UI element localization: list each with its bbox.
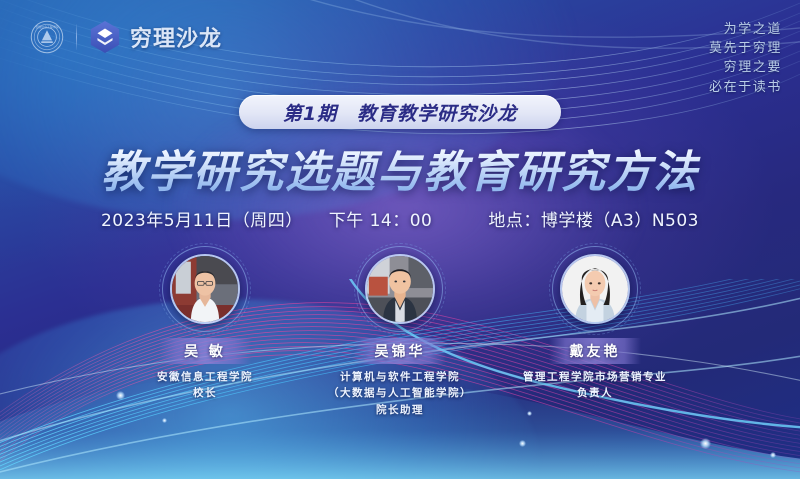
sparkle-dot [700,438,711,449]
page-title: 教学研究选题与教育研究方法 [0,136,800,200]
speaker-nameplate: 吴 敏 [159,338,251,364]
sparkle-dot [770,452,776,458]
event-time: 下午 14：00 [329,206,433,231]
sparkle-dot [162,418,167,423]
speaker-name: 吴 敏 [175,341,235,361]
affiliation-line: 校长 [157,385,253,401]
poster-canvas: 安徽信息工程学院 穷理沙龙 为学之道 莫先于穷理 穷理之要 必在于读书 [0,0,800,479]
event-date: 2023年5月11日（周四） [101,206,303,231]
speaker-photo-frame [162,246,248,332]
motto-line: 必在于读书 [709,78,782,97]
motto-line: 为学之道 [709,20,782,39]
brand-group: 穷理沙龙 [89,20,222,54]
session-badge-label: 第1期 教育教学研究沙龙 [283,99,517,126]
header-logo-group: 安徽信息工程学院 穷理沙龙 [30,20,222,54]
speaker-name: 戴友艳 [565,341,625,361]
speaker-photo-frame [357,246,443,332]
hexagon-layers-icon [89,20,121,54]
session-badge: 第1期 教育教学研究沙龙 [239,95,561,129]
event-place: 地点：博学楼（A3）N503 [488,206,699,231]
speaker-list: 吴 敏 安徽信息工程学院 校长 [0,246,800,418]
speaker-affiliation: 管理工程学院市场营销专业 负责人 [523,369,667,402]
brand-name: 穷理沙龙 [130,21,222,53]
motto-line: 莫先于穷理 [709,39,782,58]
motto-block: 为学之道 莫先于穷理 穷理之要 必在于读书 [709,20,782,97]
affiliation-line: 院长助理 [328,402,472,418]
university-crest-icon: 安徽信息工程学院 [30,20,64,54]
header-divider [76,24,77,50]
speaker-portrait-icon [365,254,435,324]
speaker-card: 吴锦华 计算机与软件工程学院 （大数据与人工智能学院） 院长助理 [303,246,498,418]
motto-line: 穷理之要 [709,58,782,77]
affiliation-line: （大数据与人工智能学院） [328,385,472,401]
affiliation-line: 安徽信息工程学院 [157,369,253,385]
affiliation-line: 管理工程学院市场营销专业 [523,369,667,385]
affiliation-line: 计算机与软件工程学院 [328,369,472,385]
affiliation-line: 负责人 [523,385,667,401]
speaker-portrait-icon [170,254,240,324]
speaker-nameplate: 吴锦华 [354,338,446,364]
event-info-line: 2023年5月11日（周四） 下午 14：00 地点：博学楼（A3）N503 [0,206,800,231]
speaker-portrait-icon [560,254,630,324]
speaker-card: 戴友艳 管理工程学院市场营销专业 负责人 [498,246,693,418]
svg-text:安徽信息工程学院: 安徽信息工程学院 [35,24,58,29]
sparkle-dot [519,440,526,447]
speaker-card: 吴 敏 安徽信息工程学院 校长 [108,246,303,418]
speaker-nameplate: 戴友艳 [549,338,641,364]
speaker-photo-frame [552,246,638,332]
speaker-affiliation: 计算机与软件工程学院 （大数据与人工智能学院） 院长助理 [328,369,472,418]
speaker-affiliation: 安徽信息工程学院 校长 [157,369,253,402]
speaker-name: 吴锦华 [370,341,430,361]
